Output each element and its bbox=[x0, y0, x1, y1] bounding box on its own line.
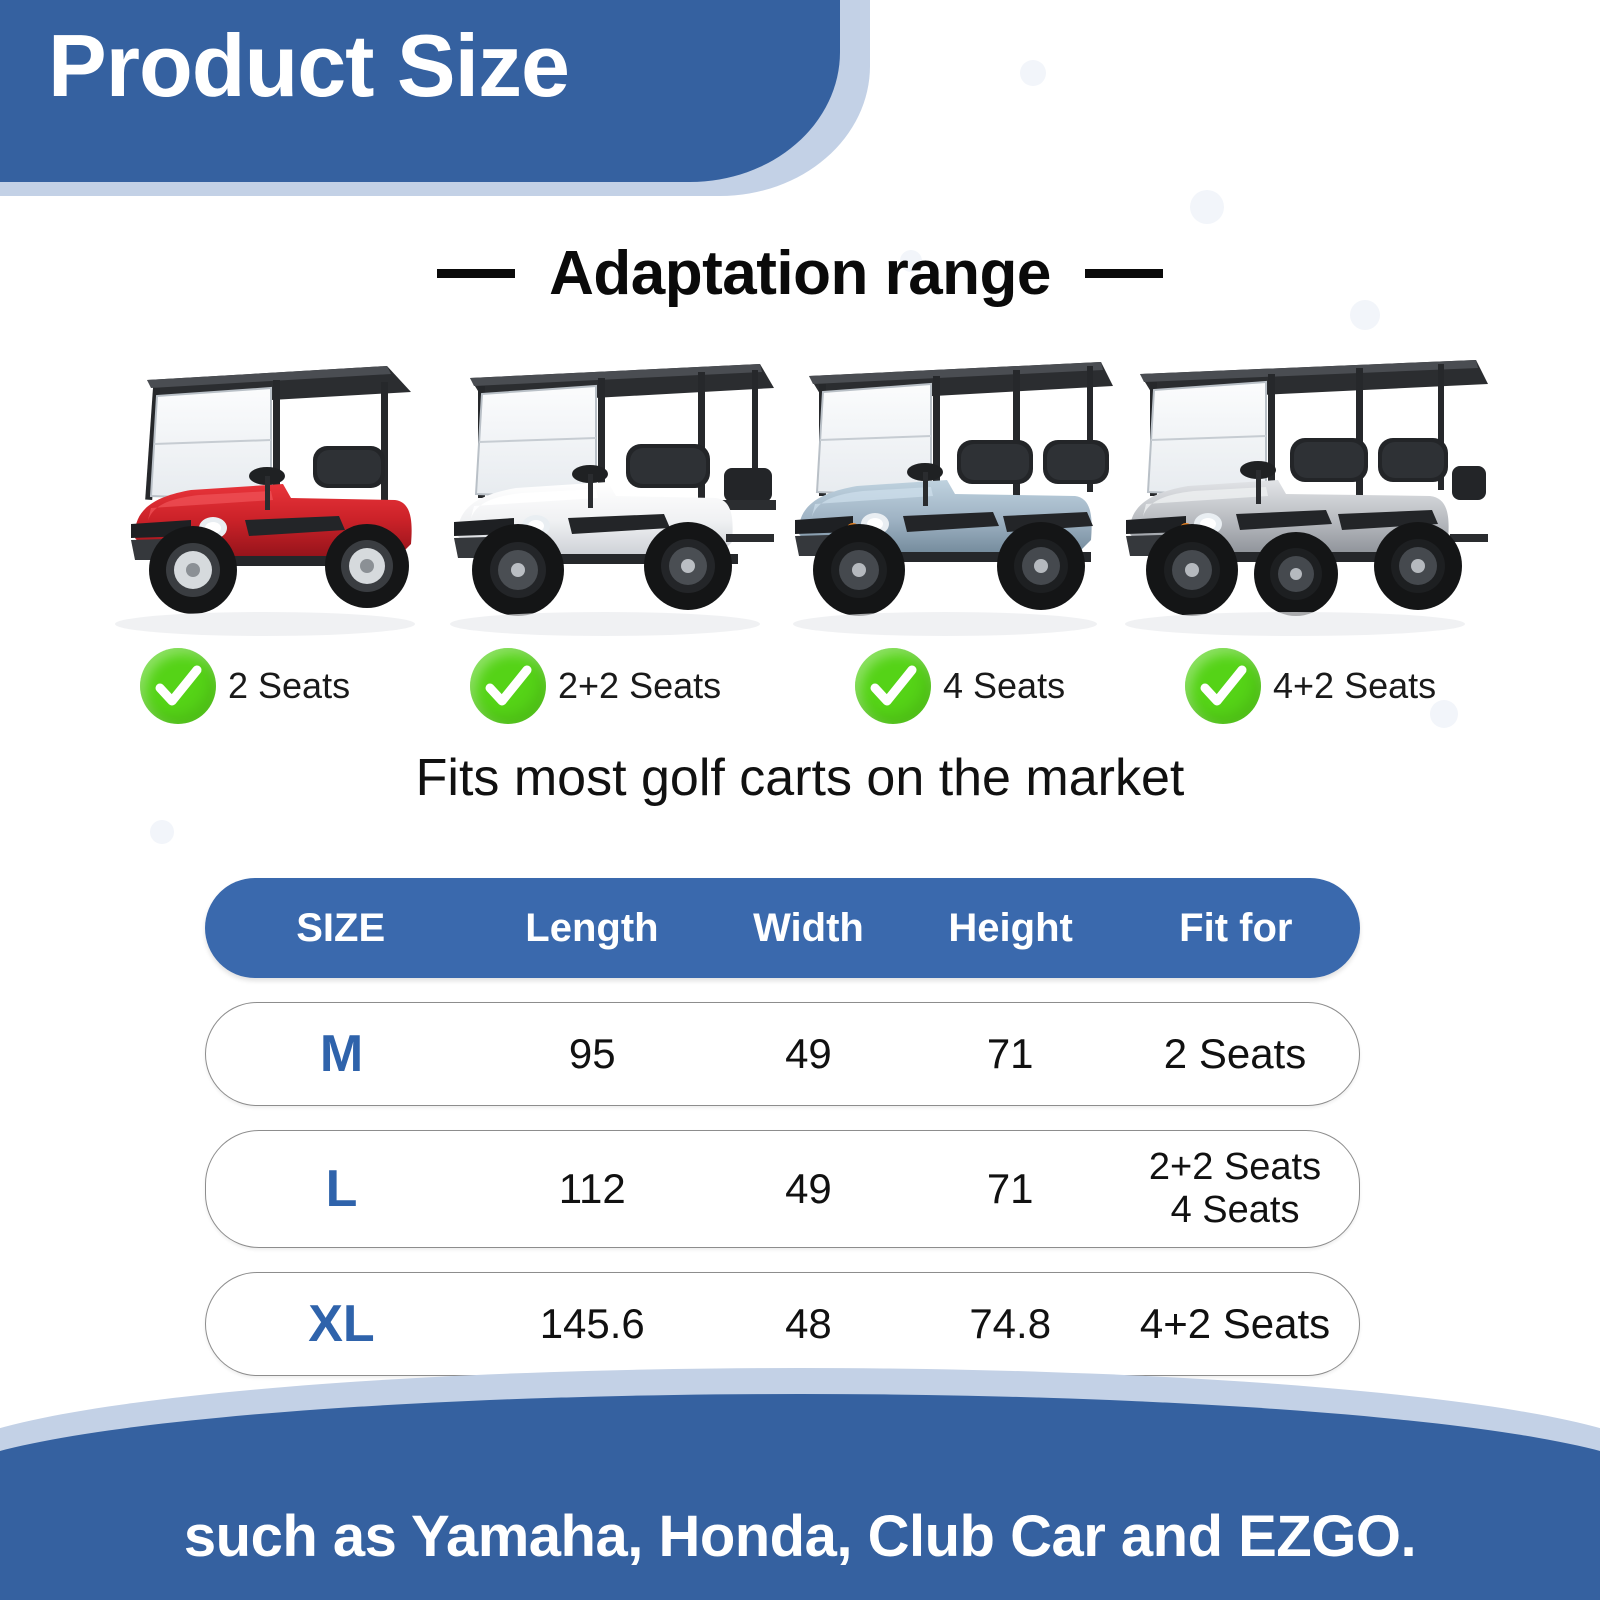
table-row: L 112 49 71 2+2 Seats 4 Seats bbox=[205, 1130, 1360, 1248]
cell-length: 112 bbox=[477, 1165, 708, 1213]
badge-label: 4+2 Seats bbox=[1273, 665, 1436, 707]
check-icon bbox=[470, 648, 546, 724]
cell-fit-for: 2 Seats bbox=[1111, 1030, 1359, 1078]
dash-right-icon bbox=[1085, 269, 1163, 278]
column-header-length: Length bbox=[476, 906, 707, 951]
page-title: Product Size bbox=[48, 22, 569, 110]
decorative-circle bbox=[150, 820, 174, 844]
cell-fit-for-line1: 2+2 Seats bbox=[1111, 1146, 1359, 1189]
footer-text: such as Yamaha, Honda, Club Car and EZGO… bbox=[0, 1503, 1600, 1570]
golf-cart-image-2plus2-seats bbox=[430, 348, 780, 658]
check-icon bbox=[855, 648, 931, 724]
badge-label: 2 Seats bbox=[228, 665, 350, 707]
badge-label: 4 Seats bbox=[943, 665, 1065, 707]
table-row: M 95 49 71 2 Seats bbox=[205, 1002, 1360, 1106]
badge-label: 2+2 Seats bbox=[558, 665, 721, 707]
size-table: SIZE Length Width Height Fit for M 95 49… bbox=[205, 878, 1360, 1376]
column-header-fit-for: Fit for bbox=[1112, 906, 1360, 951]
table-header-row: SIZE Length Width Height Fit for bbox=[205, 878, 1360, 978]
column-header-size: SIZE bbox=[205, 906, 476, 951]
badge-2-seats: 2 Seats bbox=[140, 648, 350, 724]
adaptation-range-heading: Adaptation range bbox=[0, 238, 1600, 309]
column-header-height: Height bbox=[910, 906, 1112, 951]
cell-width: 49 bbox=[708, 1030, 910, 1078]
cell-fit-for-line2: 4 Seats bbox=[1111, 1189, 1359, 1232]
cell-length: 95 bbox=[477, 1030, 708, 1078]
badge-4-seats: 4 Seats bbox=[855, 648, 1065, 724]
golf-cart-image-4-seats bbox=[775, 348, 1115, 658]
golf-cart-image-4plus2-seats bbox=[1100, 348, 1490, 658]
cell-size: M bbox=[206, 1024, 477, 1084]
adaptation-range-title: Adaptation range bbox=[549, 238, 1051, 309]
golf-cart-gallery bbox=[0, 338, 1600, 658]
cell-width: 49 bbox=[708, 1165, 910, 1213]
fits-most-subtitle: Fits most golf carts on the market bbox=[0, 748, 1600, 808]
footer-banner: such as Yamaha, Honda, Club Car and EZGO… bbox=[0, 1335, 1600, 1600]
seat-capacity-badges: 2 Seats 2+2 Seats 4 Seats 4+2 Seats bbox=[0, 648, 1600, 740]
check-icon bbox=[1185, 648, 1261, 724]
column-header-width: Width bbox=[707, 906, 909, 951]
header-banner: Product Size bbox=[0, 0, 1600, 230]
cell-fit-for: 2+2 Seats 4 Seats bbox=[1111, 1146, 1359, 1231]
dash-left-icon bbox=[437, 269, 515, 278]
badge-2plus2-seats: 2+2 Seats bbox=[470, 648, 721, 724]
golf-cart-image-2-seats bbox=[95, 348, 425, 658]
cell-height: 71 bbox=[909, 1030, 1111, 1078]
check-icon bbox=[140, 648, 216, 724]
cell-height: 71 bbox=[909, 1165, 1111, 1213]
cell-size: L bbox=[206, 1159, 477, 1219]
badge-4plus2-seats: 4+2 Seats bbox=[1185, 648, 1436, 724]
